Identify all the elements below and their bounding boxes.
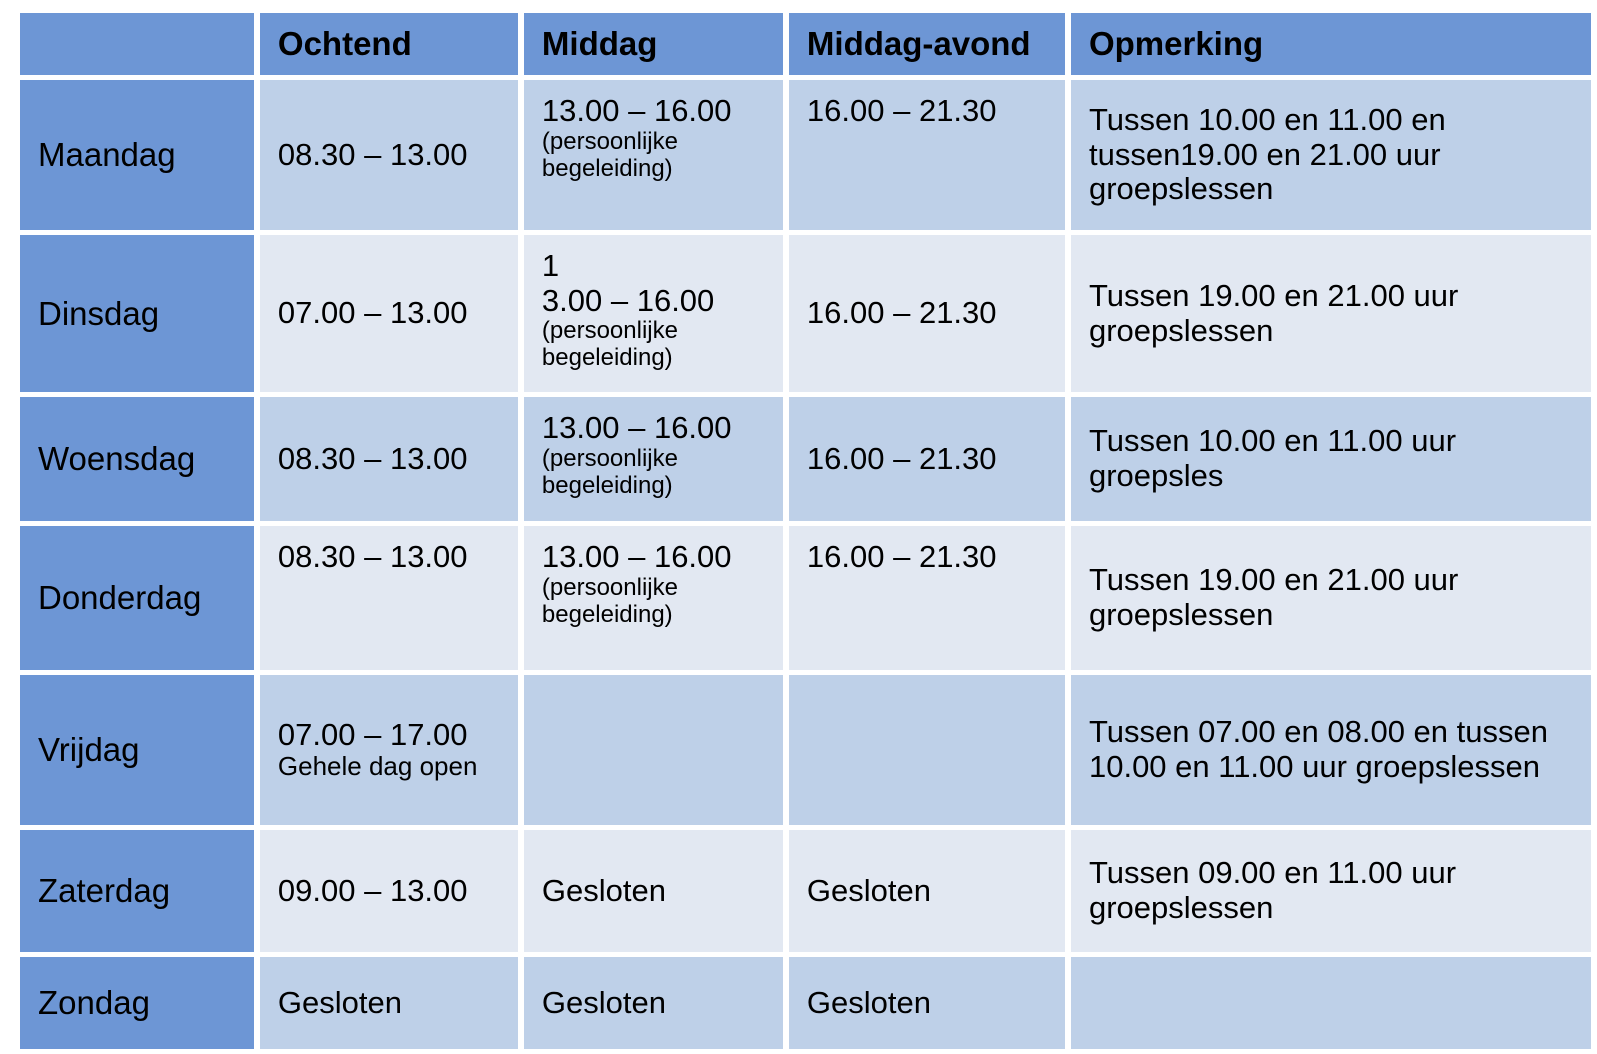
cell-donderdag-ochtend: 08.30 – 13.00 xyxy=(260,526,518,670)
cell-donderdag-middag-note: (persoonlijke begeleiding) xyxy=(542,575,769,629)
cell-vrijdag-middag xyxy=(524,675,783,825)
day-label-zaterdag: Zaterdag xyxy=(20,830,254,952)
cell-dinsdag-middag-note: (persoonlijke begeleiding) xyxy=(542,318,769,372)
cell-dinsdag-middag-time-part1: 1 xyxy=(542,249,769,284)
cell-dinsdag-middag: 1 3.00 – 16.00 (persoonlijke begeleiding… xyxy=(524,235,783,392)
cell-vrijdag-avond xyxy=(789,675,1065,825)
cell-maandag-middag: 13.00 – 16.00 (persoonlijke begeleiding) xyxy=(524,80,783,230)
cell-maandag-opmerking: Tussen 10.00 en 11.00 en tussen19.00 en … xyxy=(1071,80,1591,230)
cell-zondag-opmerking xyxy=(1071,957,1591,1049)
cell-donderdag-middag-time: 13.00 – 16.00 xyxy=(542,540,769,575)
day-label-vrijdag: Vrijdag xyxy=(20,675,254,825)
cell-zaterdag-ochtend: 09.00 – 13.00 xyxy=(260,830,518,952)
cell-vrijdag-ochtend: 07.00 – 17.00 Gehele dag open xyxy=(260,675,518,825)
header-cell-corner xyxy=(20,13,254,75)
cell-vrijdag-ochtend-note: Gehele dag open xyxy=(278,752,504,782)
cell-zaterdag-middag: Gesloten xyxy=(524,830,783,952)
header-cell-middag: Middag xyxy=(524,13,783,75)
table-row: Dinsdag 07.00 – 13.00 1 3.00 – 16.00 (pe… xyxy=(20,235,1591,392)
header-cell-middag-avond: Middag-avond xyxy=(789,13,1065,75)
day-label-maandag: Maandag xyxy=(20,80,254,230)
table-row: Zaterdag 09.00 – 13.00 Gesloten Gesloten… xyxy=(20,830,1591,952)
day-label-dinsdag: Dinsdag xyxy=(20,235,254,392)
cell-maandag-middag-note: (persoonlijke begeleiding) xyxy=(542,129,769,183)
cell-vrijdag-ochtend-time: 07.00 – 17.00 xyxy=(278,718,504,753)
cell-zondag-avond: Gesloten xyxy=(789,957,1065,1049)
header-cell-opmerking: Opmerking xyxy=(1071,13,1591,75)
cell-maandag-avond: 16.00 – 21.30 xyxy=(789,80,1065,230)
table-header-row: Ochtend Middag Middag-avond Opmerking xyxy=(20,13,1591,75)
cell-woensdag-middag: 13.00 – 16.00 (persoonlijke begeleiding) xyxy=(524,397,783,521)
cell-zaterdag-opmerking: Tussen 09.00 en 11.00 uur groepslessen xyxy=(1071,830,1591,952)
cell-maandag-ochtend: 08.30 – 13.00 xyxy=(260,80,518,230)
cell-woensdag-middag-note: (persoonlijke begeleiding) xyxy=(542,446,769,500)
cell-zondag-middag: Gesloten xyxy=(524,957,783,1049)
cell-donderdag-middag: 13.00 – 16.00 (persoonlijke begeleiding) xyxy=(524,526,783,670)
table-row: Zondag Gesloten Gesloten Gesloten xyxy=(20,957,1591,1049)
table-row: Maandag 08.30 – 13.00 13.00 – 16.00 (per… xyxy=(20,80,1591,230)
cell-zaterdag-avond: Gesloten xyxy=(789,830,1065,952)
cell-woensdag-ochtend: 08.30 – 13.00 xyxy=(260,397,518,521)
cell-woensdag-middag-time: 13.00 – 16.00 xyxy=(542,411,769,446)
cell-donderdag-opmerking: Tussen 19.00 en 21.00 uur groepslessen xyxy=(1071,526,1591,670)
cell-dinsdag-ochtend: 07.00 – 13.00 xyxy=(260,235,518,392)
cell-donderdag-avond: 16.00 – 21.30 xyxy=(789,526,1065,670)
table-row: Woensdag 08.30 – 13.00 13.00 – 16.00 (pe… xyxy=(20,397,1591,521)
cell-vrijdag-opmerking: Tussen 07.00 en 08.00 en tussen 10.00 en… xyxy=(1071,675,1591,825)
day-label-donderdag: Donderdag xyxy=(20,526,254,670)
header-cell-ochtend: Ochtend xyxy=(260,13,518,75)
table-row: Vrijdag 07.00 – 17.00 Gehele dag open Tu… xyxy=(20,675,1591,825)
cell-dinsdag-opmerking: Tussen 19.00 en 21.00 uur groepslessen xyxy=(1071,235,1591,392)
table-row: Donderdag 08.30 – 13.00 13.00 – 16.00 (p… xyxy=(20,526,1591,670)
opening-hours-table: Ochtend Middag Middag-avond Opmerking Ma… xyxy=(14,8,1597,1054)
cell-dinsdag-avond: 16.00 – 21.30 xyxy=(789,235,1065,392)
day-label-woensdag: Woensdag xyxy=(20,397,254,521)
cell-zondag-ochtend: Gesloten xyxy=(260,957,518,1049)
cell-dinsdag-middag-time-part2: 3.00 – 16.00 xyxy=(542,284,769,319)
cell-woensdag-avond: 16.00 – 21.30 xyxy=(789,397,1065,521)
cell-woensdag-opmerking: Tussen 10.00 en 11.00 uur groepsles xyxy=(1071,397,1591,521)
cell-maandag-middag-time: 13.00 – 16.00 xyxy=(542,94,769,129)
day-label-zondag: Zondag xyxy=(20,957,254,1049)
